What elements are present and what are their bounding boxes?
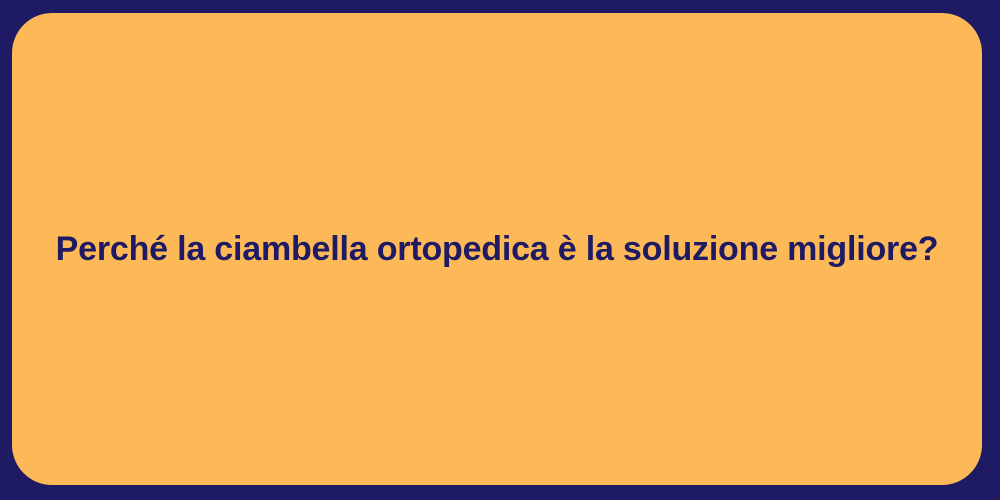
banner-card: Perché la ciambella ortopedica è la solu… bbox=[12, 13, 982, 485]
banner-headline: Perché la ciambella ortopedica è la solu… bbox=[56, 228, 939, 271]
banner-frame: Perché la ciambella ortopedica è la solu… bbox=[0, 0, 1000, 500]
